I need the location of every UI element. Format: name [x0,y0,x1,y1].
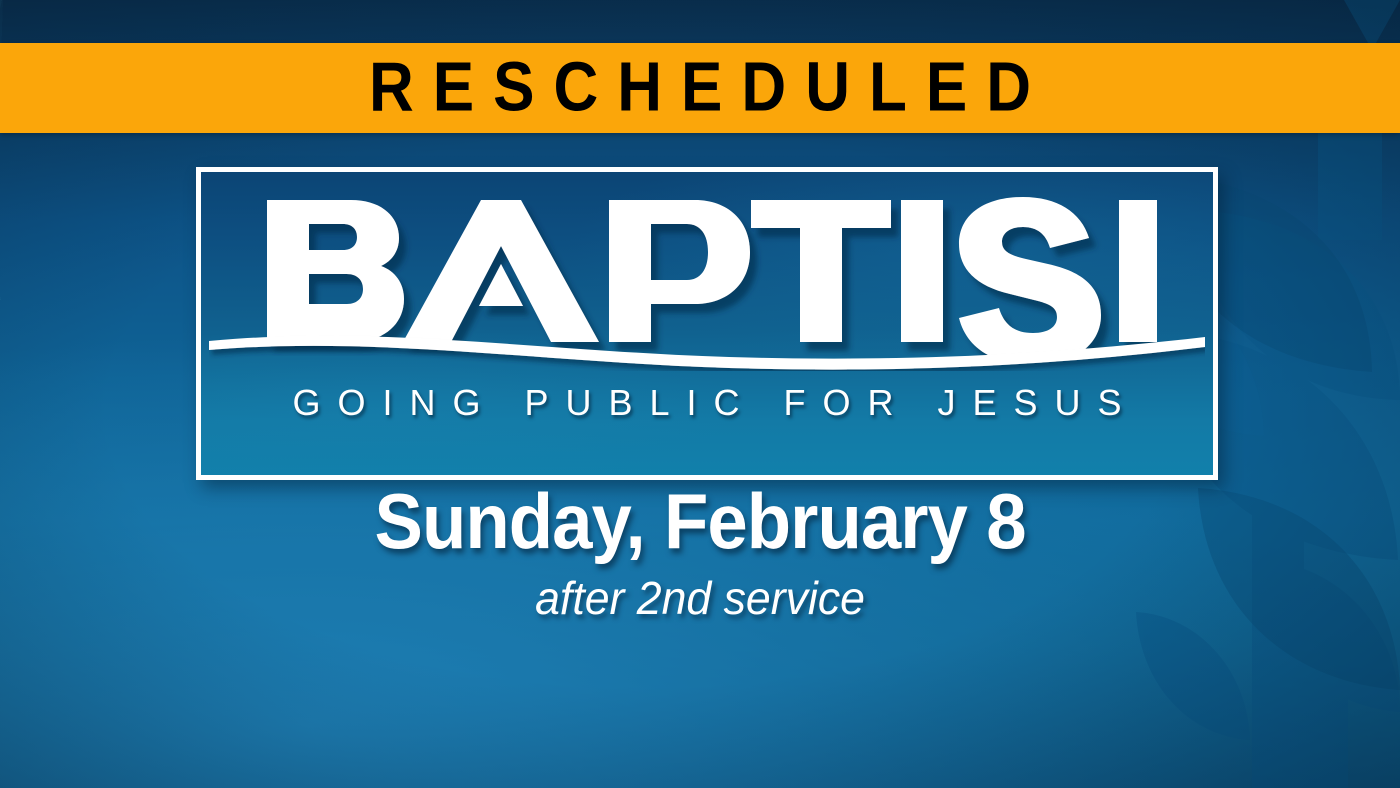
event-date: Sunday, February 8 [0,482,1400,560]
event-detail: after 2nd service [0,575,1400,621]
rescheduled-banner-label: RESCHEDULED [350,53,1050,122]
rescheduled-banner: RESCHEDULED [0,43,1400,133]
baptism-announcement-slide: RESCHEDULED [0,0,1400,788]
event-date-text: Sunday, February 8 [374,482,1025,560]
event-detail-text: after 2nd service [535,575,865,621]
baptism-logo-frame: GOING PUBLIC FOR JESUS [196,167,1218,480]
baptism-wordmark [201,194,1213,361]
baptism-tagline: GOING PUBLIC FOR JESUS [201,382,1213,424]
